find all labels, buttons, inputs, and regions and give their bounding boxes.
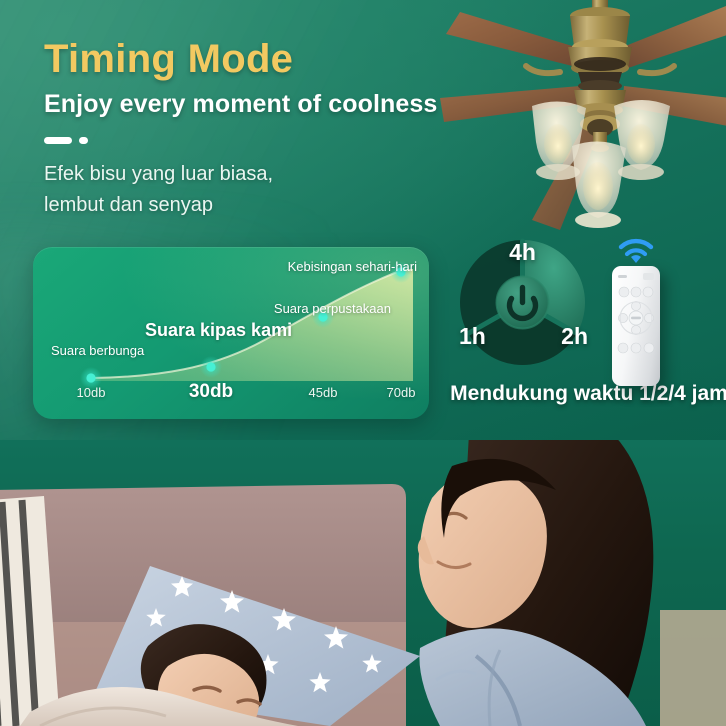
divider-dot	[79, 137, 88, 144]
divider-dash	[44, 137, 72, 144]
axis-tick-10db: 10db	[77, 385, 106, 400]
axis-tick-30db: 30db	[189, 381, 233, 403]
timer-label-2h[interactable]: 2h	[561, 323, 588, 350]
timer-caption: Mendukung waktu 1/2/4 jam	[444, 382, 726, 406]
wifi-icon	[617, 236, 655, 264]
chart-x-axis: 10db 30db 45db 70db	[33, 385, 429, 409]
remote-control[interactable]	[612, 266, 660, 386]
axis-tick-45db: 45db	[309, 385, 338, 400]
timer-dial[interactable]: 4h 1h 2h	[455, 235, 590, 370]
chart-annotation-library: Suara perpustakaan	[274, 301, 391, 316]
description-line-2: lembut dan senyap	[44, 191, 514, 220]
headline-block: Timing Mode Enjoy every moment of coolne…	[44, 38, 514, 220]
lifestyle-photo	[0, 440, 726, 726]
promo-banner: Timing Mode Enjoy every moment of coolne…	[0, 0, 726, 726]
chart-annotation-rustling: Suara berbunga	[51, 343, 144, 358]
timer-label-4h[interactable]: 4h	[509, 239, 536, 266]
page-title: Timing Mode	[44, 38, 514, 80]
timer-label-1h[interactable]: 1h	[459, 323, 486, 350]
axis-tick-70db: 70db	[387, 385, 416, 400]
noise-level-chart-card: Kebisingan sehari-hari Suara perpustakaa…	[33, 247, 429, 419]
chart-annotation-daily-noise: Kebisingan sehari-hari	[288, 259, 417, 274]
page-subtitle: Enjoy every moment of coolness	[44, 90, 514, 119]
chart-annotation-our-fan: Suara kipas kami	[145, 320, 292, 341]
bedroom-scene-illustration	[0, 440, 726, 726]
divider-accent	[44, 137, 514, 144]
remote-buttons	[612, 266, 660, 386]
description-line-1: Efek bisu yang luar biasa,	[44, 160, 514, 189]
